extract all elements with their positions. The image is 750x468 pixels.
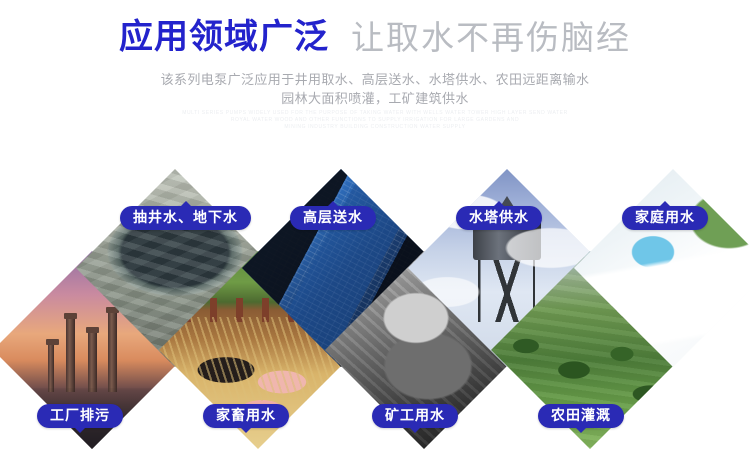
subtitle-line-1: 该系列电泵广泛应用于井用取水、高层送水、水塔供水、农田远距离输水: [0, 70, 750, 89]
badge-pointer-icon: [410, 428, 420, 433]
badge-label: 农田灌溉: [551, 408, 611, 424]
badge-pointer-icon: [75, 428, 85, 433]
badge-pointer-icon: [494, 201, 504, 206]
smokestack-icon: [108, 312, 117, 392]
smokestack-icon: [48, 344, 54, 392]
badge-miner-water[interactable]: 矿工用水: [372, 404, 458, 428]
smokestack-icon: [88, 332, 97, 392]
watermark-line-1: MULTI SERIES PUMPS WIDELY USED FOR THE P…: [0, 110, 750, 117]
badge-pointer-icon: [241, 428, 251, 433]
subtitle-line-2: 园林大面积喷灌，工矿建筑供水: [0, 89, 750, 108]
badge-label: 工厂排污: [50, 408, 110, 424]
badge-label: 家畜用水: [216, 408, 276, 424]
badge-farmland-irrigation[interactable]: 农田灌溉: [538, 404, 624, 428]
page-title: 应用领域广泛让取水不再伤脑经: [0, 20, 750, 54]
badge-water-tower[interactable]: 水塔供水: [456, 206, 542, 230]
badge-label: 水塔供水: [469, 210, 529, 226]
badge-pointer-icon: [576, 428, 586, 433]
title-accent-text: 让取水不再伤脑经: [351, 19, 631, 56]
badge-pointer-icon: [328, 201, 338, 206]
badge-well-groundwater[interactable]: 抽井水、地下水: [120, 206, 251, 230]
watermark-line-3: MINING INDUSTRY BUILDING CONSTRUCTION WA…: [0, 124, 750, 131]
badge-label: 抽井水、地下水: [133, 210, 238, 226]
badge-household-water[interactable]: 家庭用水: [622, 206, 708, 230]
watermark-line-2: ROYAL WATER WOOD AND OTHER FUNCTIONS TO …: [0, 117, 750, 124]
badge-label: 矿工用水: [385, 408, 445, 424]
promo-banner: 应用领域广泛让取水不再伤脑经 该系列电泵广泛应用于井用取水、高层送水、水塔供水、…: [0, 0, 750, 468]
badge-high-rise-supply[interactable]: 高层送水: [290, 206, 376, 230]
banner-subtitle: 该系列电泵广泛应用于井用取水、高层送水、水塔供水、农田远距离输水 园林大面积喷灌…: [0, 70, 750, 108]
badge-livestock-water[interactable]: 家畜用水: [203, 404, 289, 428]
watermark-english-text: MULTI SERIES PUMPS WIDELY USED FOR THE P…: [0, 110, 750, 131]
car-wheel-icon: [685, 294, 715, 324]
badge-label: 家庭用水: [635, 210, 695, 226]
application-diamond-grid: 工厂排污 抽井水、地下水 家畜用水 高层送水: [0, 170, 750, 468]
smokestack-icon: [66, 318, 75, 392]
badge-factory-discharge[interactable]: 工厂排污: [37, 404, 123, 428]
badge-pointer-icon: [660, 201, 670, 206]
badge-label: 高层送水: [303, 210, 363, 226]
title-main-text: 应用领域广泛: [119, 17, 329, 57]
badge-pointer-icon: [181, 201, 191, 206]
